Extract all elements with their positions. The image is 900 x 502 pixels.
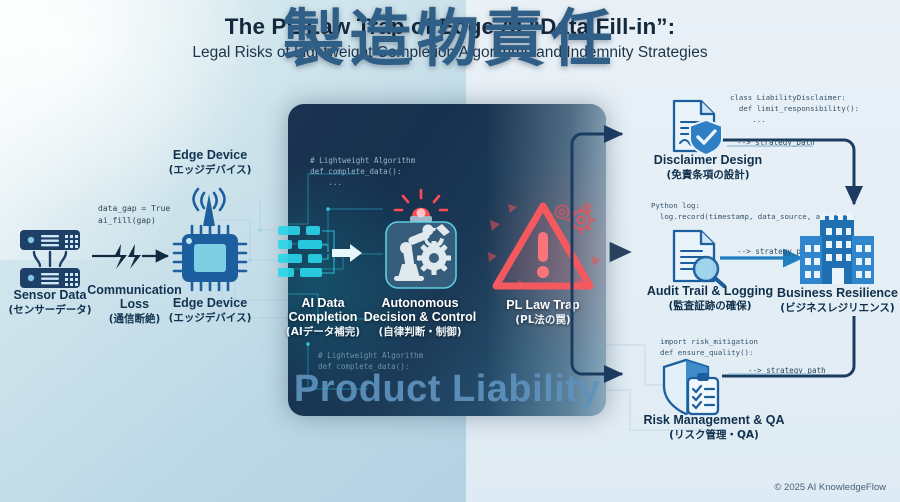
broken-link-arrow-icon bbox=[90, 238, 180, 274]
strategy-path-line-1 bbox=[727, 143, 817, 149]
risk-label-en: Risk Management & QA bbox=[614, 413, 814, 427]
node-autonomous-decision: Autonomous Decision & Control (自律判断・制御) bbox=[358, 296, 482, 339]
shield-checklist-icon bbox=[664, 358, 726, 418]
node-edge-device-top: Edge Device (エッジデバイス) bbox=[155, 148, 265, 177]
edge-device-top-label-en: Edge Device bbox=[155, 148, 265, 162]
code-risk-mitigation: import risk_mitigation def ensure_qualit… bbox=[660, 336, 758, 358]
code-lightweight-algorithm-bottom: # Lightweight Algorithm def complete_dat… bbox=[318, 350, 423, 372]
edge-device-bottom-label-jp: (エッジデバイス) bbox=[150, 310, 270, 325]
node-disclaimer-design: Disclaimer Design (免責条項の設計) bbox=[628, 153, 788, 182]
autonomous-label-en-line2: Decision & Control bbox=[358, 310, 482, 324]
document-magnifier-icon bbox=[668, 228, 726, 286]
resilience-label-jp: (ビジネスレジリエンス) bbox=[760, 300, 900, 315]
node-risk-management-qa: Risk Management & QA (リスク管理・QA) bbox=[614, 413, 814, 442]
code-liability-disclaimer: class LiabilityDisclaimer: def limit_res… bbox=[730, 92, 859, 125]
watermark-english: Product Liability bbox=[288, 368, 606, 411]
edge-device-bottom-label-en: Edge Device bbox=[150, 296, 270, 310]
copyright-footer: © 2025 AI KnowledgeFlow bbox=[774, 482, 886, 493]
node-edge-device-bottom: Edge Device (エッジデバイス) bbox=[150, 296, 270, 325]
strategy-path-line-3 bbox=[728, 371, 818, 377]
data-blocks-icon bbox=[276, 222, 372, 292]
disclaimer-label-en: Disclaimer Design bbox=[628, 153, 788, 167]
autonomous-label-en-line1: Autonomous bbox=[358, 296, 482, 310]
risk-label-jp: (リスク管理・QA) bbox=[614, 427, 814, 442]
microchip-icon bbox=[170, 222, 248, 294]
edge-device-top-label-jp: (エッジデバイス) bbox=[155, 162, 265, 177]
disclaimer-label-jp: (免責条項の設計) bbox=[628, 167, 788, 182]
code-data-gap: data_gap = True ai_fill(gap) bbox=[98, 203, 170, 226]
document-shield-check-icon bbox=[668, 98, 724, 156]
office-building-icon bbox=[796, 212, 878, 284]
robot-arm-gear-icon bbox=[372, 186, 468, 292]
watermark-japanese: 製造物責任 bbox=[0, 0, 900, 78]
infographic-canvas: The PL Law Trap of Edge AI “Data Fill-in… bbox=[0, 0, 900, 502]
autonomous-label-jp: (自律判断・制御) bbox=[358, 324, 482, 339]
node-business-resilience: Business Resilience (ビジネスレジリエンス) bbox=[760, 286, 900, 315]
server-stack-icon bbox=[14, 228, 86, 290]
code-lightweight-algorithm-top: # Lightweight Algorithm def complete_dat… bbox=[310, 155, 415, 188]
resilience-label-en: Business Resilience bbox=[760, 286, 900, 300]
